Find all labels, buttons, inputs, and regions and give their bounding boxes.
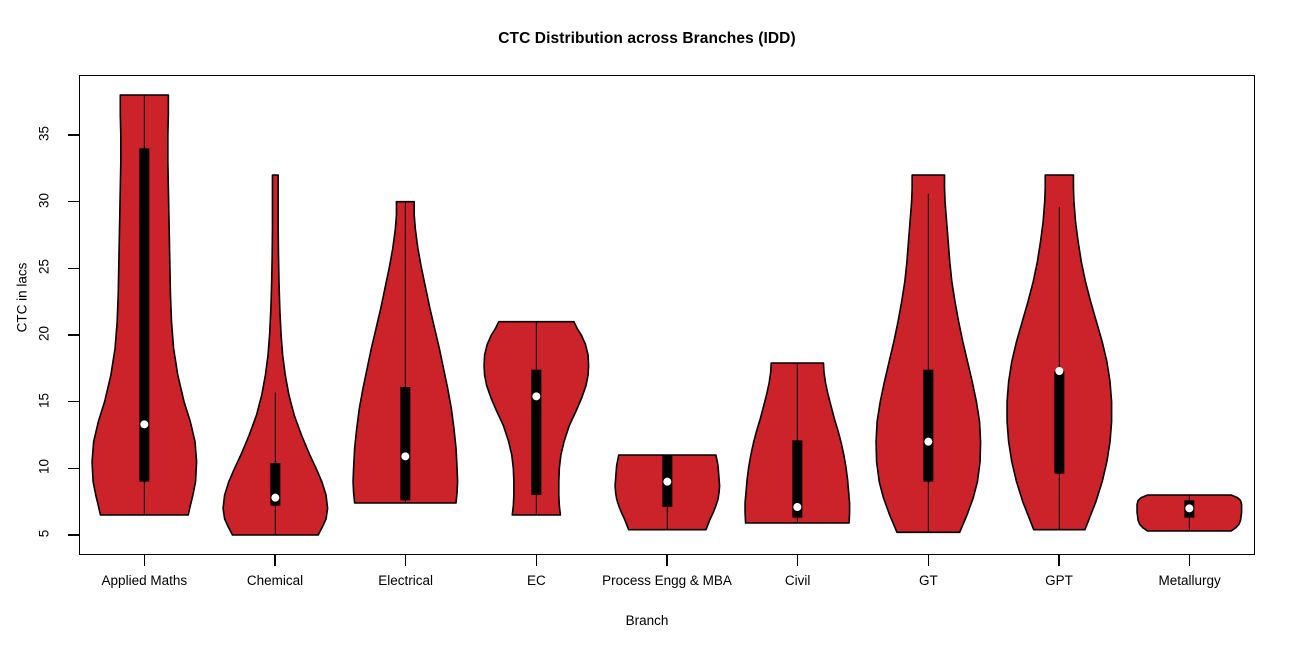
median-point (532, 392, 540, 400)
y-axis-tick (68, 534, 79, 535)
iqr-box (1054, 371, 1064, 474)
x-axis-tick-label: GPT (1045, 573, 1073, 588)
iqr-box (923, 370, 933, 482)
median-point (1186, 504, 1194, 512)
violin-shape (79, 75, 210, 555)
median-point (140, 420, 148, 428)
violin-shape (994, 75, 1125, 555)
x-axis-tick-label: Applied Maths (102, 573, 188, 588)
median-point (663, 478, 671, 486)
iqr-box (401, 387, 411, 500)
median-point (271, 494, 279, 502)
x-axis-tick-label: Chemical (247, 573, 303, 588)
violin-shape (340, 75, 471, 555)
x-axis-tick (666, 555, 667, 566)
y-axis-tick-label: 35 (37, 114, 52, 154)
x-axis-title: Branch (0, 613, 1294, 628)
x-axis-tick (274, 555, 275, 566)
x-axis-tick-label: Civil (785, 573, 811, 588)
x-axis-tick (536, 555, 537, 566)
y-axis-tick-label: 20 (37, 314, 52, 354)
chart-page: CTC Distribution across Branches (IDD) C… (0, 0, 1294, 653)
x-axis: Applied MathsChemicalElectricalECProcess… (79, 555, 1255, 615)
median-point (924, 438, 932, 446)
iqr-box (531, 370, 541, 495)
x-axis-tick-label: Electrical (378, 573, 433, 588)
x-axis-tick-label: EC (527, 573, 546, 588)
violin-shape (471, 75, 602, 555)
x-axis-tick (797, 555, 798, 566)
violin-shape (1124, 75, 1255, 555)
violin-group[interactable] (863, 75, 994, 555)
x-axis-tick-label: Metallurgy (1159, 573, 1221, 588)
y-axis-tick (68, 201, 79, 202)
y-axis-tick-label: 25 (37, 247, 52, 287)
plot-area (79, 75, 1255, 555)
chart-title: CTC Distribution across Branches (IDD) (0, 30, 1294, 48)
x-axis-tick (405, 555, 406, 566)
median-point (794, 503, 802, 511)
violin-group[interactable] (732, 75, 863, 555)
y-axis-tick-label: 5 (37, 514, 52, 554)
violin-shape (210, 75, 341, 555)
x-axis-tick (928, 555, 929, 566)
y-axis-tick (68, 334, 79, 335)
violin-shape (863, 75, 994, 555)
median-point (402, 452, 410, 460)
violin-group[interactable] (210, 75, 341, 555)
violin-group[interactable] (994, 75, 1125, 555)
x-axis-tick (144, 555, 145, 566)
x-axis-tick (1189, 555, 1190, 566)
y-axis-tick (68, 401, 79, 402)
violin-group[interactable] (79, 75, 210, 555)
y-axis-tick-label: 15 (37, 380, 52, 420)
violin-group[interactable] (602, 75, 733, 555)
x-axis-tick-label: Process Engg & MBA (602, 573, 732, 588)
violin-shape (732, 75, 863, 555)
violin-shape (602, 75, 733, 555)
violin-group[interactable] (471, 75, 602, 555)
violin-group[interactable] (340, 75, 471, 555)
x-axis-tick-label: GT (919, 573, 938, 588)
y-axis-title: CTC in lacs (15, 228, 30, 368)
y-axis: CTC in lacs 5101520253035 (0, 0, 79, 653)
y-axis-tick (68, 268, 79, 269)
median-point (1055, 367, 1063, 375)
violin-group[interactable] (1124, 75, 1255, 555)
x-axis-tick (1058, 555, 1059, 566)
y-axis-tick-label: 10 (37, 447, 52, 487)
y-axis-tick-label: 30 (37, 180, 52, 220)
y-axis-tick (68, 134, 79, 135)
y-axis-tick (68, 468, 79, 469)
iqr-box (139, 148, 149, 481)
